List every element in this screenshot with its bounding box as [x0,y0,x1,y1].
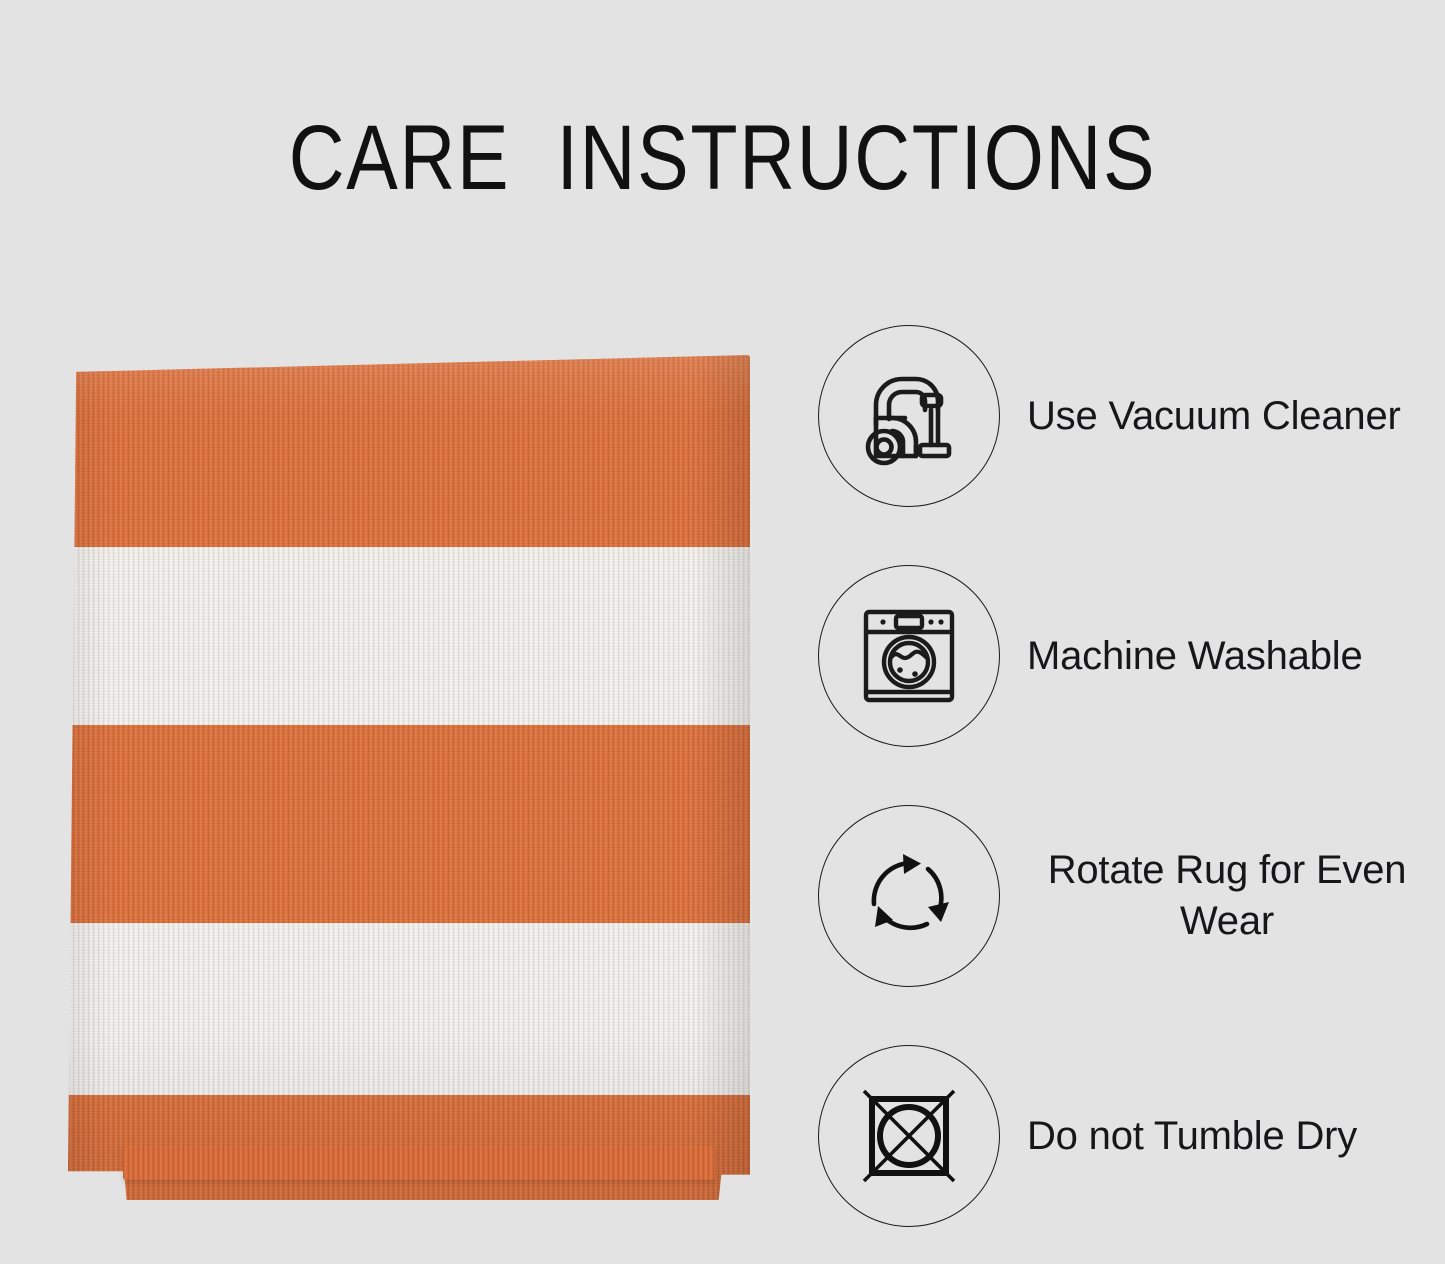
rotate-arrows-icon [818,805,1000,987]
care-item-vacuum: Use Vacuum Cleaner [818,296,1433,536]
rug-stripe-white-2 [68,923,750,1095]
rug-stripe-orange-2 [68,725,750,923]
page-title: CARE INSTRUCTIONS [116,108,1330,208]
care-item-label: Do not Tumble Dry [1027,1111,1357,1162]
washing-machine-icon [818,565,1000,747]
no-tumble-dry-icon [818,1045,1000,1227]
vacuum-cleaner-icon [818,325,1000,507]
product-image [58,340,768,1220]
care-item-no-tumble-dry: Do not Tumble Dry [818,1016,1433,1256]
care-item-label: Machine Washable [1027,631,1363,682]
rug-fold-lip [123,1146,715,1180]
care-item-label: Use Vacuum Cleaner [1027,391,1401,442]
rug-stripe-orange-1 [68,355,750,547]
care-instructions-page: CARE INSTRUCTIONS [0,0,1445,1264]
care-item-machine-wash: Machine Washable [818,536,1433,776]
care-item-label: Rotate Rug for Even Wear [1027,845,1427,947]
folded-striped-rug [68,355,750,1200]
rug-stripe-white-1 [68,547,750,725]
care-instructions-list: Use Vacuum Cleaner [818,296,1433,1256]
care-item-rotate: Rotate Rug for Even Wear [818,776,1433,1016]
